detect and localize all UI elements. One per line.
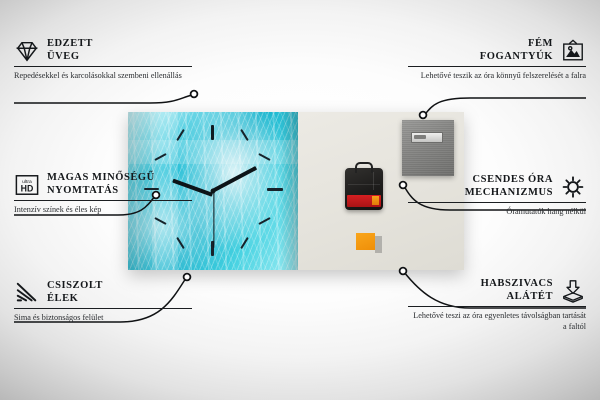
callout-header: ultra HD MAGAS MINŐSÉGŰ NYOMTATÁS (14, 172, 192, 197)
ultra-hd-icon: ultra HD (14, 173, 40, 197)
callout-header: HABSZIVACS ALÁTÉT (408, 278, 586, 303)
minute-hand (211, 166, 257, 193)
mechanism-hanger-loop (355, 162, 373, 173)
callout-title: CSISZOLT ÉLEK (47, 280, 103, 305)
diagonal-lines-icon (14, 281, 40, 305)
metal-grain (402, 120, 454, 176)
callout-title-line2: ÉLEK (47, 293, 103, 306)
callout-title: FÉM FOGANTYÚK (480, 38, 553, 63)
callout-subtitle: Sima és biztonságos felület (14, 313, 192, 323)
svg-text:HD: HD (21, 183, 34, 193)
callout-divider (408, 66, 586, 67)
foam-pad-detail (356, 233, 375, 250)
callout-subtitle: Lehetővé teszik az óra könnyű felszerelé… (408, 71, 586, 81)
callout-header: CSISZOLT ÉLEK (14, 280, 192, 305)
callout-title-line1: EDZETT (47, 38, 93, 51)
callout-divider (408, 306, 586, 307)
infographic-canvas: EDZETT ÜVEG Repedésekkel és karcolásokka… (0, 0, 600, 400)
callout-metal-handles: FÉM FOGANTYÚK Lehetővé teszik az óra kön… (408, 38, 586, 82)
gear-icon (560, 175, 586, 199)
callout-subtitle: Lehetővé teszi az óra egyenletes távolsá… (408, 311, 586, 331)
callout-title-line1: HABSZIVACS (481, 278, 553, 291)
callout-title-line2: ALÁTÉT (481, 291, 553, 304)
callout-polished-edges: CSISZOLT ÉLEK Sima és biztonságos felüle… (14, 280, 192, 324)
callout-divider (14, 200, 192, 201)
second-hand (213, 192, 214, 248)
battery (347, 195, 381, 207)
clock-center-cap (211, 189, 216, 194)
callout-foam-pad: HABSZIVACS ALÁTÉT Lehetővé teszi az óra … (408, 278, 586, 332)
callout-title-line2: NYOMTATÁS (47, 185, 155, 198)
callout-title: CSENDES ÓRA MECHANIZMUS (465, 174, 553, 199)
callout-title-line1: CSENDES ÓRA (465, 174, 553, 187)
metal-hanger-detail (402, 120, 454, 176)
down-arrow-pad-icon (560, 279, 586, 303)
callout-title: MAGAS MINŐSÉGŰ NYOMTATÁS (47, 172, 155, 197)
callout-tempered-glass: EDZETT ÜVEG Repedésekkel és karcolásokka… (14, 38, 192, 82)
mechanism-line (373, 172, 374, 190)
callout-title-line1: FÉM (480, 38, 553, 51)
wire-tempered-glass (14, 95, 192, 103)
callout-title: HABSZIVACS ALÁTÉT (481, 278, 553, 303)
callout-divider (14, 66, 192, 67)
callout-header: CSENDES ÓRA MECHANIZMUS (408, 174, 586, 199)
callout-subtitle: Óramutatók hang nélkül (408, 207, 586, 217)
diamond-icon (14, 39, 40, 63)
callout-divider (408, 202, 586, 203)
wire-endpoint-tempered-glass (191, 91, 198, 98)
callout-title-line2: MECHANIZMUS (465, 187, 553, 200)
callout-header: EDZETT ÜVEG (14, 38, 192, 63)
callout-high-quality-print: ultra HD MAGAS MINŐSÉGŰ NYOMTATÁS Intenz… (14, 172, 192, 216)
callout-header: FÉM FOGANTYÚK (408, 38, 586, 63)
callout-title-line1: CSISZOLT (47, 280, 103, 293)
callout-title: EDZETT ÜVEG (47, 38, 93, 63)
mechanism-seam (348, 184, 380, 185)
callout-subtitle: Intenzív színek és éles kép (14, 205, 192, 215)
callout-title-line2: ÜVEG (47, 51, 93, 64)
callout-silent-mechanism: CSENDES ÓRA MECHANIZMUS Óramutatók hang … (408, 174, 586, 218)
clock-mechanism-detail (345, 168, 383, 210)
callout-divider (14, 308, 192, 309)
hanger-slot (411, 132, 443, 143)
callout-subtitle: Repedésekkel és karcolásokkal szembeni e… (14, 71, 192, 81)
callout-title-line1: MAGAS MINŐSÉGŰ (47, 172, 155, 185)
callout-title-line2: FOGANTYÚK (480, 51, 553, 64)
picture-frame-hanger-icon (560, 39, 586, 63)
